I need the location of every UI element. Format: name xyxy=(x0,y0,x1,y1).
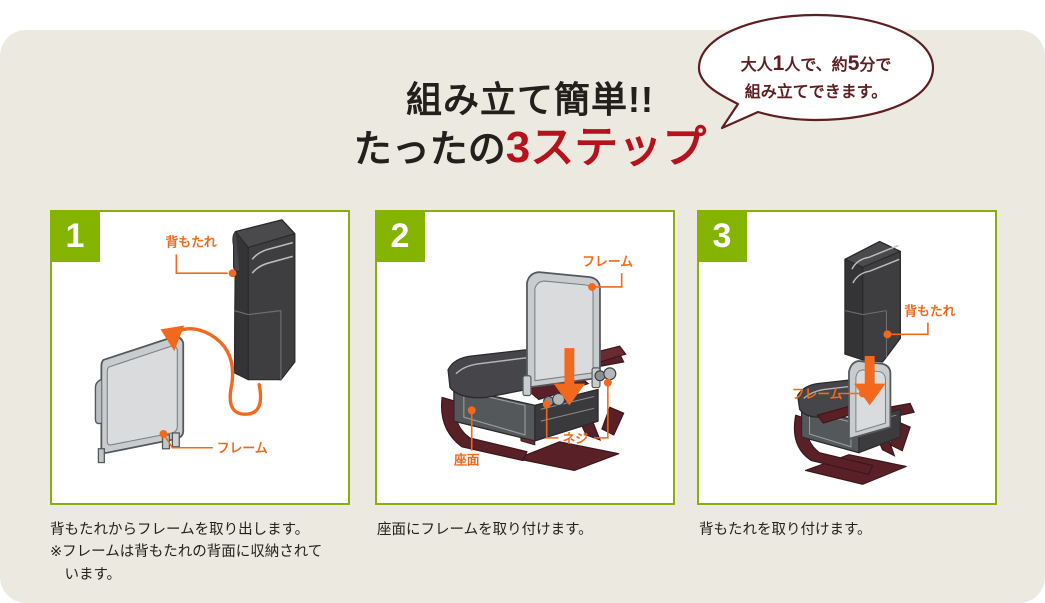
bubble-line-2: 組み立てできます。 xyxy=(692,81,940,106)
label-frame-text: フレーム xyxy=(792,386,843,401)
step-3-illustration: 背もたれ フレーム xyxy=(699,212,995,503)
bubble-minutes: 5 xyxy=(848,52,860,75)
page-title: 組み立て簡単!! たったの3ステップ xyxy=(330,82,730,170)
speech-bubble-text: 大人1人で、約5分で 組み立てできます。 xyxy=(692,48,940,105)
step-caption-2: 座面にフレームを取り付けます。 xyxy=(377,519,687,541)
label-frame: フレーム xyxy=(582,254,633,291)
step-caption-3: 背もたれを取り付けます。 xyxy=(699,519,1009,541)
label-seat-text: 座面 xyxy=(453,453,480,468)
step-caption-1: 背もたれからフレームを取り出します。 ※フレームは背もたれの背面に収納されて い… xyxy=(50,519,370,586)
label-backrest-text: 背もたれ xyxy=(165,235,216,250)
backrest-graphic xyxy=(233,220,295,380)
bubble-line-1: 大人1人で、約5分で xyxy=(692,48,940,81)
label-backrest: 背もたれ xyxy=(165,235,236,278)
step-1-illustration: 背もたれ フレーム xyxy=(52,212,348,503)
step-panel-2: 2 xyxy=(375,210,675,505)
step-panel-1: 1 xyxy=(50,210,350,505)
title-accent: 3ステップ xyxy=(506,123,706,172)
step-panel-3: 3 xyxy=(697,210,997,505)
title-line-2: たったの3ステップ xyxy=(330,126,730,170)
assembly-instruction-graphic: 組み立て簡単!! たったの3ステップ 大人1人で、約5分で 組み立てできます。 … xyxy=(0,0,1045,603)
label-frame-text: フレーム xyxy=(217,441,268,456)
bubble-text-b: 人で、約 xyxy=(784,57,847,74)
title-prefix: たったの xyxy=(354,129,506,171)
backrest-graphic xyxy=(845,242,900,362)
bubble-people-count: 1 xyxy=(773,52,785,75)
bubble-text-a: 大人 xyxy=(741,57,773,74)
label-screw-text: ネジ xyxy=(562,431,588,446)
label-frame-text: フレーム xyxy=(582,254,633,269)
label-backrest-text: 背もたれ xyxy=(904,304,955,319)
speech-bubble: 大人1人で、約5分で 組み立てできます。 xyxy=(692,12,940,130)
title-line-1: 組み立て簡単!! xyxy=(330,82,730,118)
bubble-text-c: 分で xyxy=(859,57,891,74)
step-2-illustration: フレーム 座面 ネジ xyxy=(377,212,673,503)
frame-graphic xyxy=(523,272,600,395)
